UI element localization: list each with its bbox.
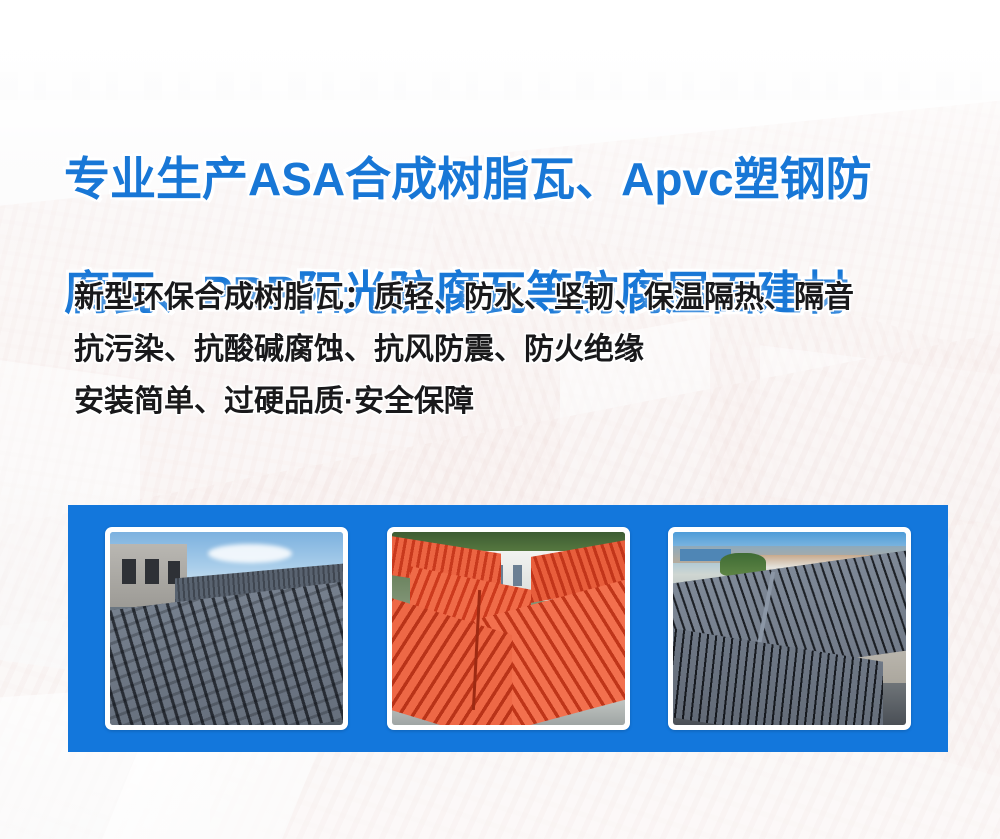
photo1-window: [122, 559, 136, 584]
subheadline-line-2: 抗污染、抗酸碱腐蚀、抗风防震、防火绝缘: [74, 324, 964, 376]
product-photo-2: [392, 532, 625, 725]
product-photo-1: [110, 532, 343, 725]
photo-gallery-panel: [68, 505, 948, 752]
banner-content: 专业生产ASA合成树脂瓦、Apvc塑钢防 腐瓦、PRP阳光防腐瓦等防腐屋面建材 …: [0, 0, 1000, 839]
headline-line-1: 专业生产ASA合成树脂瓦、Apvc塑钢防: [64, 151, 954, 208]
subheadline: 新型环保合成树脂瓦：质轻、防水、坚韧、保温隔热、隔音 抗污染、抗酸碱腐蚀、抗风防…: [74, 272, 964, 428]
subheadline-line-3: 安装简单、过硬品质·安全保障: [74, 376, 964, 428]
photo-frame-2[interactable]: [387, 527, 630, 730]
product-photo-3: [673, 532, 906, 725]
subheadline-line-1: 新型环保合成树脂瓦：质轻、防水、坚韧、保温隔热、隔音: [74, 272, 964, 324]
photo1-cloud: [208, 544, 292, 563]
photo-frame-3[interactable]: [668, 527, 911, 730]
promo-banner: 专业生产ASA合成树脂瓦、Apvc塑钢防 腐瓦、PRP阳光防腐瓦等防腐屋面建材 …: [0, 0, 1000, 839]
photo2-window: [513, 565, 522, 586]
photo-frame-1[interactable]: [105, 527, 348, 730]
photo1-window: [145, 559, 159, 584]
